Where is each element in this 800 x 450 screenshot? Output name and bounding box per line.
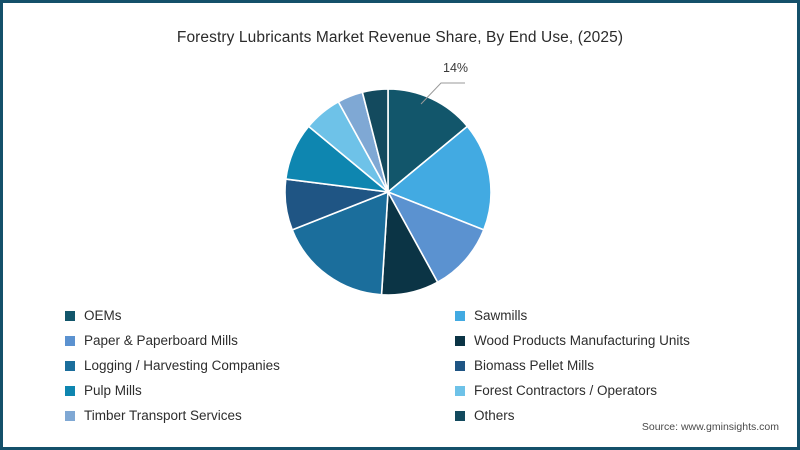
legend-item[interactable]: Biomass Pellet Mills: [455, 353, 755, 378]
legend-label: Timber Transport Services: [84, 409, 242, 423]
source-attribution: Source: www.gminsights.com: [642, 421, 779, 433]
legend-label: Wood Products Manufacturing Units: [474, 334, 690, 348]
legend-label: Forest Contractors / Operators: [474, 384, 657, 398]
legend-swatch-icon: [65, 361, 75, 371]
legend-item[interactable]: Logging / Harvesting Companies: [65, 353, 455, 378]
chart-frame: Forestry Lubricants Market Revenue Share…: [0, 0, 800, 450]
legend-item[interactable]: Sawmills: [455, 303, 755, 328]
legend-swatch-icon: [455, 411, 465, 421]
legend-swatch-icon: [65, 386, 75, 396]
legend-swatch-icon: [65, 336, 75, 346]
legend-label: Logging / Harvesting Companies: [84, 359, 280, 373]
legend-swatch-icon: [455, 311, 465, 321]
legend-swatch-icon: [65, 411, 75, 421]
pie-svg: [283, 87, 493, 297]
legend-item[interactable]: Timber Transport Services: [65, 403, 455, 428]
legend-swatch-icon: [65, 311, 75, 321]
legend-label: Paper & Paperboard Mills: [84, 334, 238, 348]
slice-percentage-label: 14%: [443, 61, 468, 75]
legend-label: Biomass Pellet Mills: [474, 359, 594, 373]
legend-item[interactable]: Paper & Paperboard Mills: [65, 328, 455, 353]
legend-swatch-icon: [455, 361, 465, 371]
legend-label: Sawmills: [474, 309, 527, 323]
legend-label: OEMs: [84, 309, 122, 323]
legend-swatch-icon: [455, 336, 465, 346]
chart-title: Forestry Lubricants Market Revenue Share…: [3, 29, 797, 47]
legend-item[interactable]: Forest Contractors / Operators: [455, 378, 755, 403]
legend-label: Others: [474, 409, 515, 423]
chart-legend: OEMsSawmillsPaper & Paperboard MillsWood…: [65, 303, 745, 428]
legend-label: Pulp Mills: [84, 384, 142, 398]
legend-item[interactable]: Wood Products Manufacturing Units: [455, 328, 755, 353]
legend-item[interactable]: OEMs: [65, 303, 455, 328]
legend-item[interactable]: Pulp Mills: [65, 378, 455, 403]
pie-chart: [283, 87, 493, 297]
legend-swatch-icon: [455, 386, 465, 396]
